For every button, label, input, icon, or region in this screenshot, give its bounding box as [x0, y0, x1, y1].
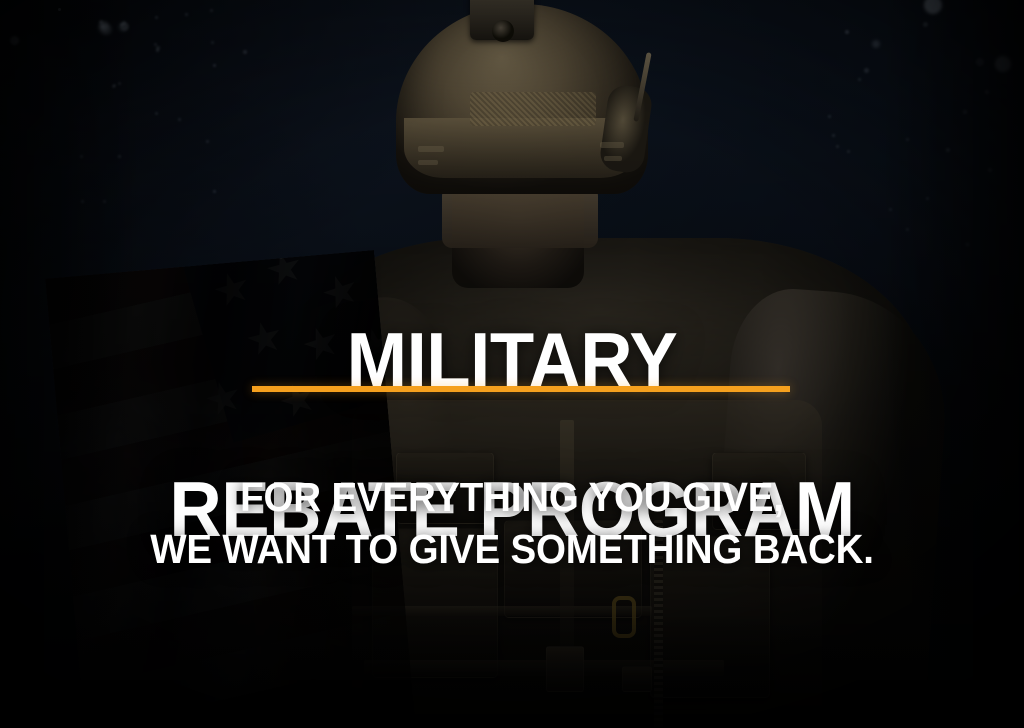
military-rebate-banner: MILITARY REBATE PROGRAM FOR EVERYTHING Y… [0, 0, 1024, 728]
subtitle-line-1: FOR EVERYTHING YOU GIVE, [31, 471, 994, 523]
subtitle-line-2: WE WANT TO GIVE SOMETHING BACK. [31, 523, 994, 575]
page-subtitle: FOR EVERYTHING YOU GIVE, WE WANT TO GIVE… [31, 471, 994, 576]
orange-divider-rule [252, 386, 790, 392]
